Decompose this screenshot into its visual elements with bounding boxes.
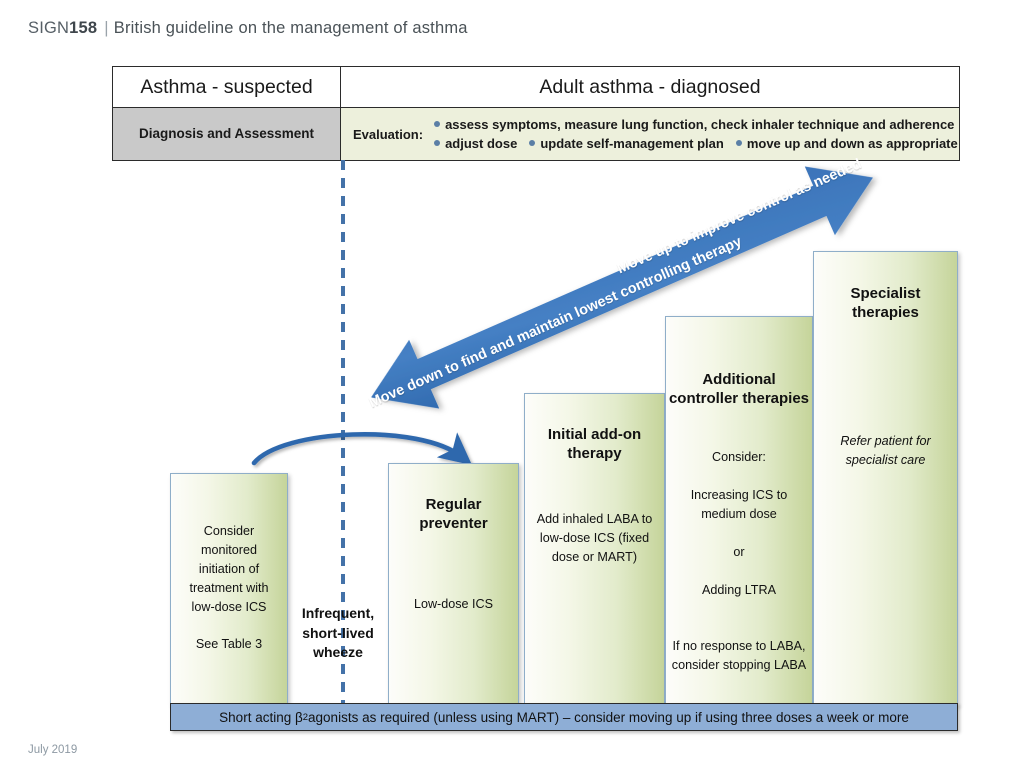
bullet-icon	[434, 140, 440, 146]
evaluation-item: move up and down as appropriate	[747, 136, 958, 151]
column-body: Consider: Increasing ICS to medium dose …	[672, 448, 806, 675]
column-title: Initial add-on therapy	[548, 425, 641, 463]
infrequent-wheeze-label: Infrequent, short-lived wheeze	[288, 604, 388, 663]
diagnosis-table: Asthma - suspected Adult asthma - diagno…	[112, 66, 960, 161]
column-title: Additional controller therapies	[669, 370, 809, 408]
bullet-icon	[529, 140, 535, 146]
sign-label: SIGN	[28, 19, 69, 37]
evaluation-item: assess symptoms, measure lung function, …	[445, 117, 954, 132]
cell-adult-asthma-diagnosed: Adult asthma - diagnosed	[341, 67, 959, 107]
step-column-additional-controller-therapies[interactable]: Additional controller therapies Consider…	[665, 316, 813, 706]
evaluation-line-1: assess symptoms, measure lung function, …	[432, 117, 954, 132]
evaluation-items: assess symptoms, measure lung function, …	[432, 115, 958, 154]
evaluation-item: update self-management plan	[540, 136, 723, 151]
cell-diagnosis-and-assessment: Diagnosis and Assessment	[113, 108, 341, 160]
column-title: Specialist therapies	[850, 284, 920, 322]
column-body: Refer patient for specialist care	[840, 432, 930, 470]
step-column-1[interactable]: Consider monitored initiation of treatme…	[170, 473, 288, 706]
document-header: SIGN158|British guideline on the managem…	[28, 19, 468, 38]
step-column-initial-add-on-therapy[interactable]: Initial add-on therapy Add inhaled LABA …	[524, 393, 665, 706]
bullet-icon	[736, 140, 742, 146]
evaluation-line-2: adjust doseupdate self-management planmo…	[432, 136, 958, 151]
table-row: Asthma - suspected Adult asthma - diagno…	[113, 67, 959, 108]
evaluation-label: Evaluation:	[353, 127, 423, 142]
step-column-specialist-therapies[interactable]: Specialist therapies Refer patient for s…	[813, 251, 958, 706]
saba-text-after: agonists as required (unless using MART)…	[308, 710, 909, 725]
column-body: Low-dose ICS	[414, 595, 493, 614]
footer-date: July 2019	[28, 744, 77, 756]
guideline-page: SIGN158|British guideline on the managem…	[0, 0, 1019, 773]
saba-bottom-bar: Short acting β2agonists as required (unl…	[170, 703, 958, 731]
step-column-regular-preventer[interactable]: Regular preventer Low-dose ICS	[388, 463, 519, 706]
column-body: Add inhaled LABA to low-dose ICS (fixed …	[537, 510, 653, 567]
cell-asthma-suspected: Asthma - suspected	[113, 67, 341, 107]
saba-text-before: Short acting β	[219, 710, 303, 725]
document-title: British guideline on the management of a…	[114, 19, 468, 37]
evaluation-item: adjust dose	[445, 136, 517, 151]
header-separator: |	[104, 19, 109, 37]
sign-number: 158	[69, 19, 97, 37]
bullet-icon	[434, 121, 440, 127]
column-body: Consider monitored initiation of treatme…	[189, 522, 268, 654]
column-title: Regular preventer	[419, 495, 487, 533]
